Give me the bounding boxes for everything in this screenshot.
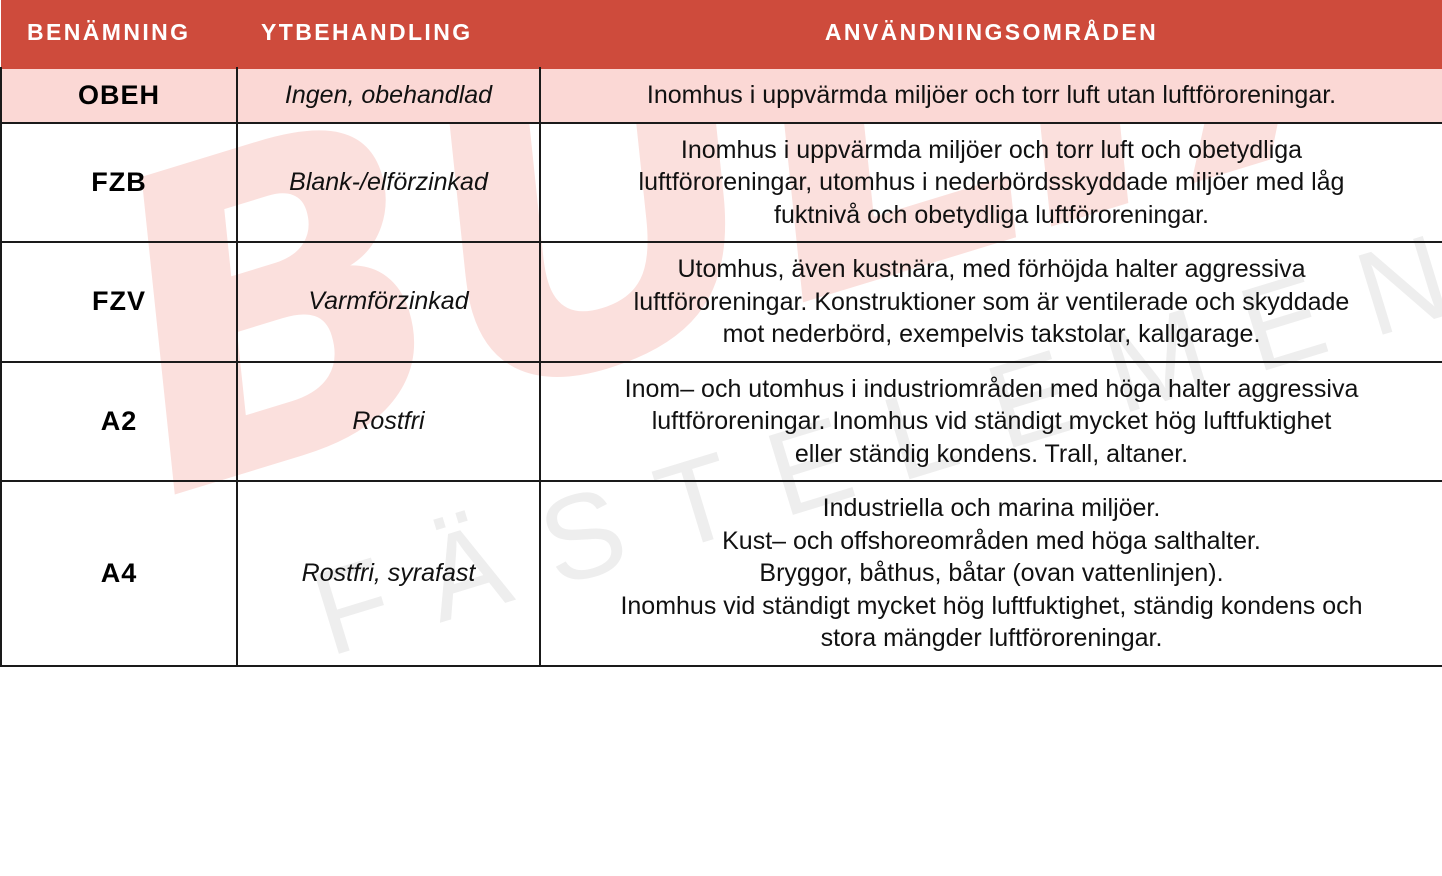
cell-benamning: A2 — [1, 362, 237, 482]
header-row: BENÄMNING YTBEHANDLING ANVÄNDNINGSOMRÅDE… — [1, 0, 1442, 68]
table-row: OBEHIngen, obehandladInomhus i uppvärmda… — [1, 68, 1442, 123]
cell-ytbehandling: Varmförzinkad — [237, 242, 540, 362]
cell-benamning: OBEH — [1, 68, 237, 123]
table-row: A4Rostfri, syrafastIndustriella och mari… — [1, 481, 1442, 666]
cell-ytbehandling: Rostfri, syrafast — [237, 481, 540, 666]
cell-ytbehandling: Blank-/elförzinkad — [237, 123, 540, 243]
description-line: fuktnivå och obetydliga luftföroreningar… — [563, 199, 1420, 232]
column-header-anvandningsomraden: ANVÄNDNINGSOMRÅDEN — [540, 0, 1442, 68]
description-line: Inom– och utomhus i industriområden med … — [563, 373, 1420, 406]
table-header: BENÄMNING YTBEHANDLING ANVÄNDNINGSOMRÅDE… — [1, 0, 1442, 68]
column-header-benamning: BENÄMNING — [1, 0, 237, 68]
table-row: FZVVarmförzinkadUtomhus, även kustnära, … — [1, 242, 1442, 362]
table-body: OBEHIngen, obehandladInomhus i uppvärmda… — [1, 68, 1442, 666]
description-line: Inomhus vid ständigt mycket hög luftfukt… — [563, 590, 1420, 623]
description-line: Inomhus i uppvärmda miljöer och torr luf… — [563, 134, 1420, 167]
cell-ytbehandling: Rostfri — [237, 362, 540, 482]
description-line: Kust– och offshoreområden med höga salth… — [563, 525, 1420, 558]
cell-anvandningsomraden: Industriella och marina miljöer.Kust– oc… — [540, 481, 1442, 666]
cell-anvandningsomraden: Inomhus i uppvärmda miljöer och torr luf… — [540, 68, 1442, 123]
cell-anvandningsomraden: Inomhus i uppvärmda miljöer och torr luf… — [540, 123, 1442, 243]
description-line: Inomhus i uppvärmda miljöer och torr luf… — [563, 79, 1420, 112]
cell-ytbehandling: Ingen, obehandlad — [237, 68, 540, 123]
table-row: FZBBlank-/elförzinkadInomhus i uppvärmda… — [1, 123, 1442, 243]
description-line: luftföroreningar. Inomhus vid ständigt m… — [563, 405, 1420, 438]
description-line: luftföroreningar. Konstruktioner som är … — [563, 286, 1420, 319]
description-line: Bryggor, båthus, båtar (ovan vattenlinje… — [563, 557, 1420, 590]
table-container: BENÄMNING YTBEHANDLING ANVÄNDNINGSOMRÅDE… — [0, 0, 1442, 667]
cell-benamning: FZB — [1, 123, 237, 243]
cell-anvandningsomraden: Utomhus, även kustnära, med förhöjda hal… — [540, 242, 1442, 362]
table-row: A2RostfriInom– och utomhus i industriomr… — [1, 362, 1442, 482]
description-line: Industriella och marina miljöer. — [563, 492, 1420, 525]
surface-treatment-table: BENÄMNING YTBEHANDLING ANVÄNDNINGSOMRÅDE… — [0, 0, 1442, 667]
description-line: luftföroreningar, utomhus i nederbördssk… — [563, 166, 1420, 199]
page-root: BULTAB FÄSTELEMENT BENÄMNING YTBEHANDLIN… — [0, 0, 1442, 876]
cell-benamning: FZV — [1, 242, 237, 362]
column-header-ytbehandling: YTBEHANDLING — [237, 0, 540, 68]
cell-anvandningsomraden: Inom– och utomhus i industriområden med … — [540, 362, 1442, 482]
description-line: stora mängder luftföroreningar. — [563, 622, 1420, 655]
description-line: mot nederbörd, exempelvis takstolar, kal… — [563, 318, 1420, 351]
cell-benamning: A4 — [1, 481, 237, 666]
description-line: eller ständig kondens. Trall, altaner. — [563, 438, 1420, 471]
description-line: Utomhus, även kustnära, med förhöjda hal… — [563, 253, 1420, 286]
